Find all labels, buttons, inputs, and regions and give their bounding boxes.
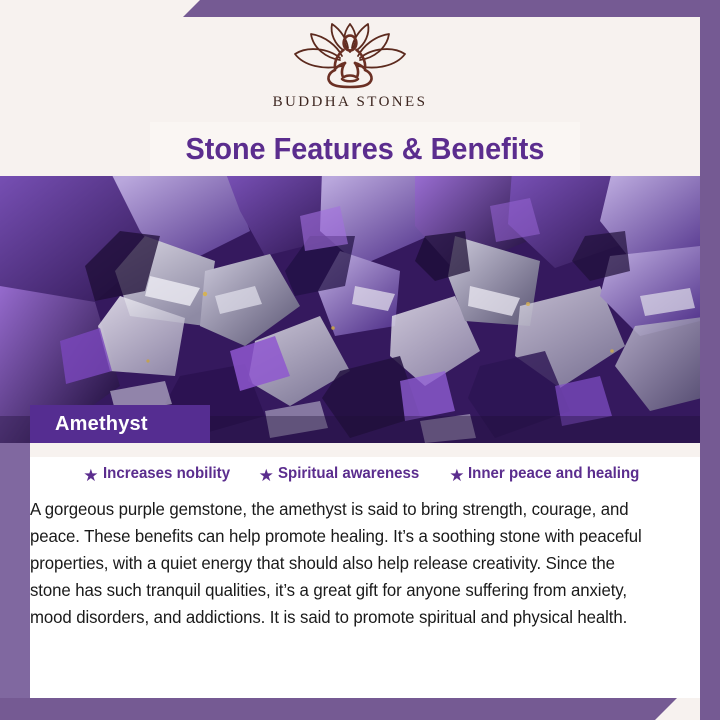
brand-name: BUDDHA STONES: [273, 94, 428, 111]
star-icon: ★: [449, 467, 464, 484]
benefit-item: ★ Increases nobility: [83, 465, 237, 483]
frame-top-bar: [200, 0, 720, 17]
benefit-label: Spiritual awareness: [278, 465, 419, 483]
benefit-label: Inner peace and healing: [468, 465, 639, 483]
frame-right-bar: [700, 0, 720, 720]
content-card: ★ Increases nobility ★ Spiritual awarene…: [30, 443, 700, 698]
stone-description: A gorgeous purple gemstone, the amethyst…: [30, 496, 655, 631]
benefits-row: ★ Increases nobility ★ Spiritual awarene…: [30, 465, 700, 483]
benefit-item: ★ Inner peace and healing: [449, 465, 651, 483]
stone-name-label: Amethyst: [30, 413, 148, 436]
brand-block: BUDDHA STONES: [0, 20, 700, 111]
stone-name-banner: Amethyst: [30, 405, 210, 443]
amethyst-photo: [0, 176, 700, 443]
lotus-meditation-icon: [280, 20, 420, 92]
benefit-label: Increases nobility: [103, 465, 230, 483]
frame-bottom-bar: [0, 698, 655, 720]
star-icon: ★: [259, 467, 274, 484]
stone-benefits-poster: BUDDHA STONES: [0, 0, 720, 720]
star-icon: ★: [83, 467, 98, 484]
content-top-tint: [30, 443, 700, 457]
page-title: Stone Features & Benefits: [186, 131, 545, 167]
benefit-item: ★ Spiritual awareness: [259, 465, 429, 483]
frame-left-bar: [0, 443, 30, 720]
title-plaque: Stone Features & Benefits: [150, 122, 580, 176]
